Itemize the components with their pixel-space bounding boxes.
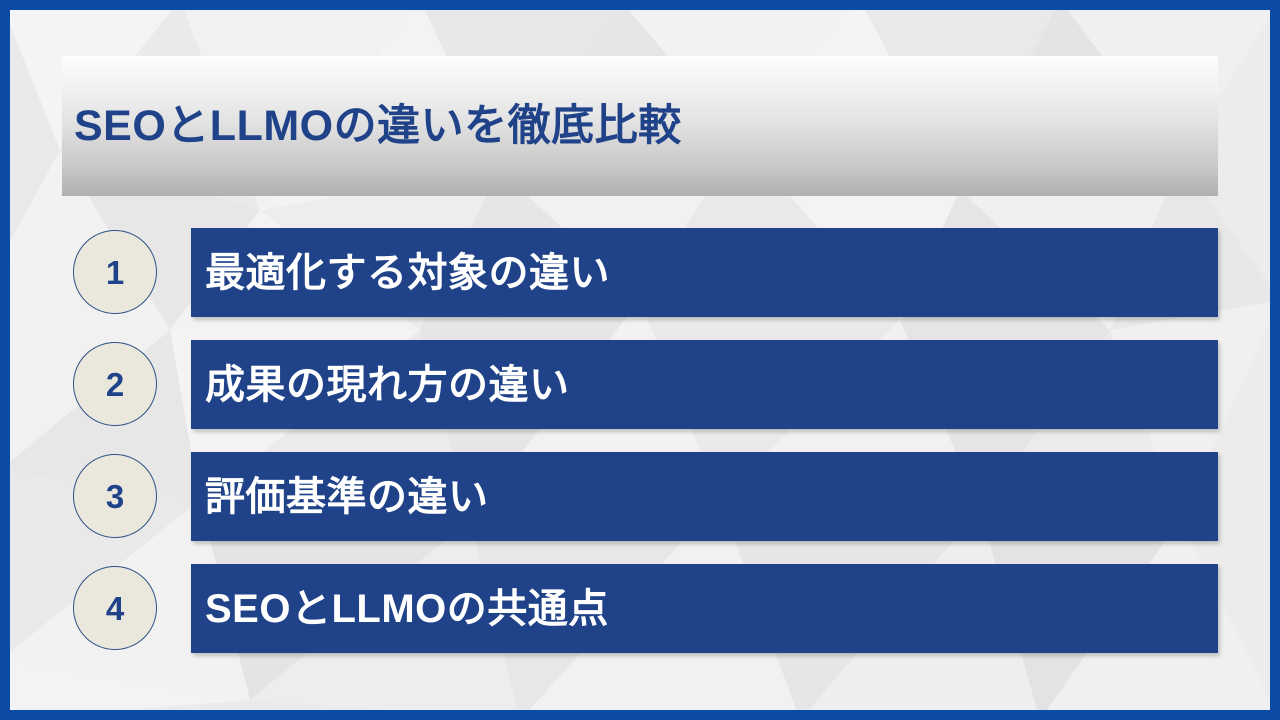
item-number-badge: 3 xyxy=(73,454,157,538)
item-label: 成果の現れ方の違い xyxy=(191,365,570,405)
title-banner: SEOとLLMOの違いを徹底比較 xyxy=(62,56,1218,196)
list-item[interactable]: 3 評価基準の違い xyxy=(0,452,1280,542)
list-item[interactable]: 1 最適化する対象の違い xyxy=(0,228,1280,318)
list-item[interactable]: 2 成果の現れ方の違い xyxy=(0,340,1280,430)
item-number-badge: 2 xyxy=(73,342,157,426)
item-number-badge: 4 xyxy=(73,566,157,650)
item-label: 評価基準の違い xyxy=(191,477,489,517)
item-label: SEOとLLMOの共通点 xyxy=(191,589,609,629)
agenda-list: 1 最適化する対象の違い 2 成果の現れ方の違い 3 評価基準の違い 4 SEO… xyxy=(0,228,1280,676)
item-bar[interactable]: 最適化する対象の違い xyxy=(191,228,1218,317)
item-bar[interactable]: 評価基準の違い xyxy=(191,452,1218,541)
item-label: 最適化する対象の違い xyxy=(191,253,610,293)
slide-canvas: SEOとLLMOの違いを徹底比較 1 最適化する対象の違い 2 成果の現れ方の違… xyxy=(0,0,1280,720)
item-number-badge: 1 xyxy=(73,230,157,314)
page-title: SEOとLLMOの違いを徹底比較 xyxy=(62,105,682,148)
item-bar[interactable]: SEOとLLMOの共通点 xyxy=(191,564,1218,653)
item-bar[interactable]: 成果の現れ方の違い xyxy=(191,340,1218,429)
list-item[interactable]: 4 SEOとLLMOの共通点 xyxy=(0,564,1280,654)
